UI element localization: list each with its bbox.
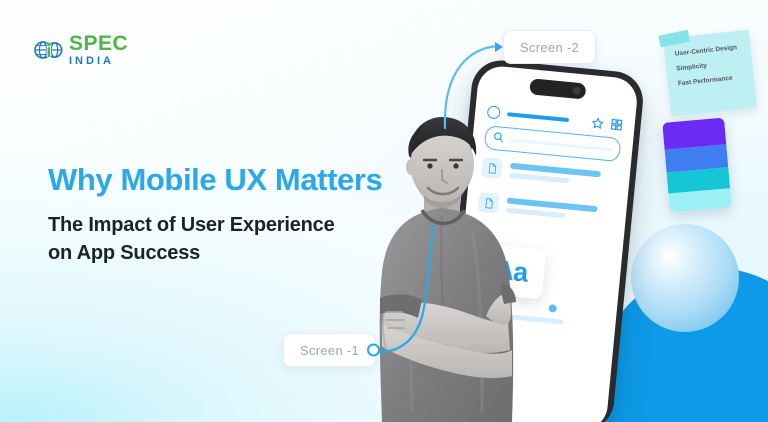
sticky-note-tape (658, 30, 690, 48)
screen-two-tag[interactable]: Screen -2 (503, 30, 596, 64)
decor-gradient-sphere (631, 224, 739, 332)
dot-marker-icon (367, 344, 380, 357)
color-palette-card (662, 117, 732, 212)
banner-canvas: SPEC INDIA Why Mobile UX Matters The Imp… (0, 0, 768, 422)
person-photo (352, 112, 542, 422)
accent-dot (548, 304, 557, 313)
brand-logo[interactable]: SPEC INDIA (34, 33, 128, 67)
subtitle-line-1: The Impact of User Experience (48, 214, 335, 236)
sticky-note: User-Centric Design Simplicity Fast Perf… (663, 30, 757, 117)
triangle-marker-icon (495, 42, 503, 52)
palette-swatch (668, 188, 731, 212)
brand-name-secondary: INDIA (69, 56, 128, 67)
star-icon[interactable] (591, 116, 604, 129)
globe-icon (34, 35, 64, 65)
brand-name-primary: SPEC (69, 33, 128, 54)
sticky-note-line: Simplicity (676, 59, 744, 74)
screen-one-tag-label: Screen -1 (300, 343, 359, 358)
brand-wordmark: SPEC INDIA (69, 33, 128, 67)
sticky-note-line: User-Centric Design (674, 43, 742, 58)
sticky-note-line: Fast Performance (678, 74, 746, 89)
header-spacer (576, 120, 585, 121)
grid-icon[interactable] (610, 118, 623, 131)
dynamic-island (529, 78, 586, 99)
screen-two-tag-label: Screen -2 (520, 40, 579, 55)
screen-one-tag[interactable]: Screen -1 (283, 333, 376, 367)
